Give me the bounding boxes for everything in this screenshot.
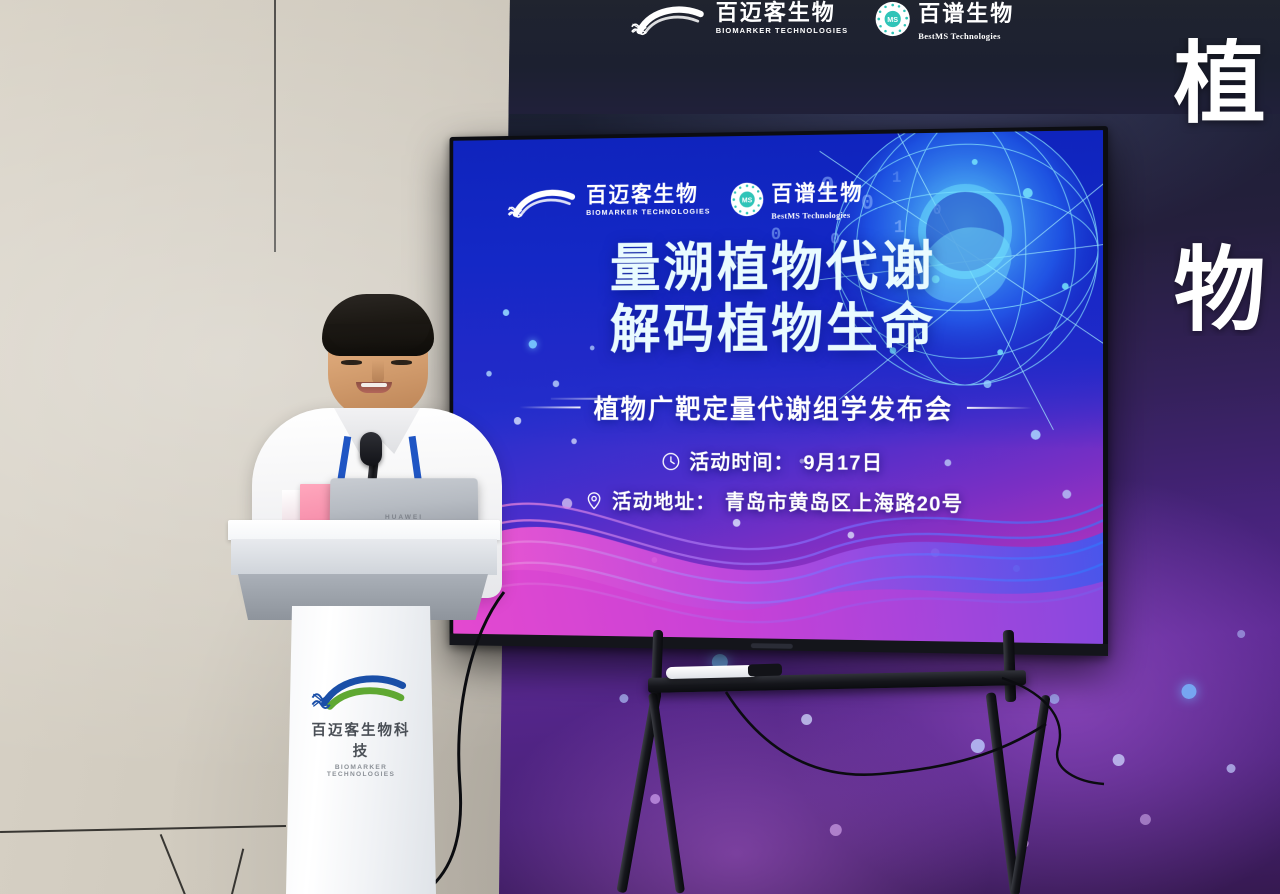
backdrop-biomarker-en: BIOMARKER TECHNOLOGIES bbox=[716, 27, 849, 35]
podium-logo: 百迈客生物科技 BIOMARKER TECHNOLOGIES bbox=[309, 668, 413, 778]
slide-subtitle: 植物广靶定量代谢组学发布会 bbox=[453, 388, 1103, 427]
screen-logo-group: 百迈客生物 BIOMARKER TECHNOLOGIES bbox=[506, 175, 863, 223]
event-address-label: 活动地址： bbox=[612, 486, 716, 516]
podium-logo-cn: 百迈客生物科技 bbox=[309, 719, 413, 761]
backdrop-logo-group: 百迈客生物 BIOMARKER TECHNOLOGIES MS bbox=[630, 0, 1015, 41]
set-top-box[interactable] bbox=[748, 664, 782, 677]
slide-event-meta: 活动时间： 9月17日 活动地址： 青岛市黄岛区上海路20号 bbox=[453, 446, 1103, 530]
microphone-head bbox=[360, 432, 382, 466]
tv-screen: 0 0 0 1 0 1 1 0 1 0 1 1 0 bbox=[453, 130, 1103, 644]
screen-bestms-logo: MS 百谱生物 BestMS Technologies bbox=[730, 175, 864, 221]
bestms-badge-icon: MS bbox=[874, 1, 910, 37]
screen-biomarker-cn: 百迈客生物 bbox=[586, 184, 710, 207]
speaker-nose bbox=[372, 360, 384, 384]
screen-biomarker-logo: 百迈客生物 BIOMARKER TECHNOLOGIES bbox=[506, 183, 710, 218]
speaker-eye-left bbox=[341, 360, 362, 365]
event-time-row: 活动时间： 9月17日 bbox=[453, 446, 1103, 478]
screen-bestms-cn: 百谱生物 bbox=[771, 175, 863, 208]
backdrop-side-text: 植 物 bbox=[1174, 38, 1280, 336]
bestms-badge-label: MS bbox=[887, 15, 898, 24]
laptop[interactable]: HUAWEI bbox=[330, 478, 479, 526]
speaker-eye-right bbox=[391, 360, 412, 365]
screen-biomarker-en: BIOMARKER TECHNOLOGIES bbox=[586, 208, 710, 217]
podium: 百迈客生物科技 BIOMARKER TECHNOLOGIES bbox=[228, 520, 500, 894]
location-pin-icon bbox=[584, 490, 604, 510]
speaker-hair bbox=[322, 294, 434, 356]
slide-title-line-1: 量溯植物代谢 bbox=[453, 234, 1103, 300]
presentation-display[interactable]: 0 0 0 1 0 1 1 0 1 0 1 1 0 bbox=[450, 126, 1108, 656]
presentation-photo: 百迈客生物 BIOMARKER TECHNOLOGIES MS bbox=[0, 0, 1280, 894]
podium-column: 百迈客生物科技 BIOMARKER TECHNOLOGIES bbox=[286, 606, 436, 894]
stand-leg-left-lower-b bbox=[648, 692, 685, 893]
event-address-value: 青岛市黄岛区上海路20号 bbox=[725, 487, 964, 518]
backdrop-biomarker-logo: 百迈客生物 BIOMARKER TECHNOLOGIES bbox=[630, 2, 849, 36]
slide-title-line-2: 解码植物生命 bbox=[453, 297, 1103, 361]
event-time-value: 9月17日 bbox=[803, 447, 883, 477]
tv-stand bbox=[600, 630, 1070, 894]
svg-text:MS: MS bbox=[741, 197, 752, 204]
subtitle-rule-right bbox=[967, 406, 1032, 408]
biomarker-arc-color-icon bbox=[309, 668, 413, 710]
clock-icon bbox=[661, 451, 681, 472]
podium-logo-en: BIOMARKER TECHNOLOGIES bbox=[309, 764, 413, 778]
biomarker-arc-icon bbox=[506, 185, 578, 219]
event-address-row: 活动地址： 青岛市黄岛区上海路20号 bbox=[453, 485, 1103, 519]
backdrop-side-char-2: 物 bbox=[1174, 246, 1280, 336]
tv-bezel: 0 0 0 1 0 1 1 0 1 0 1 1 0 bbox=[450, 126, 1108, 656]
backdrop-side-char-1: 植 bbox=[1174, 38, 1280, 128]
backdrop-biomarker-cn: 百迈客生物 bbox=[716, 2, 849, 24]
slide-title: 量溯植物代谢 解码植物生命 bbox=[453, 234, 1103, 361]
slide-subtitle-text: 植物广靶定量代谢组学发布会 bbox=[594, 388, 954, 427]
screen-bestms-en: BestMS Technologies bbox=[771, 210, 863, 221]
event-time-label: 活动时间： bbox=[689, 446, 794, 476]
podium-top-surface bbox=[228, 520, 500, 540]
bestms-badge-icon: MS bbox=[730, 181, 764, 217]
podium-front-panel bbox=[231, 539, 497, 575]
remote-control[interactable] bbox=[666, 665, 758, 679]
biomarker-arc-icon bbox=[630, 2, 708, 36]
stand-cable-right bbox=[998, 670, 1108, 790]
backdrop-bestms-logo: MS 百谱生物 BestMS Technologies bbox=[874, 0, 1014, 41]
backdrop-bestms-en: BestMS Technologies bbox=[918, 31, 1014, 41]
backdrop-bestms-cn: 百谱生物 bbox=[918, 0, 1014, 28]
subtitle-rule-left bbox=[519, 406, 580, 408]
speaker-mouth bbox=[356, 382, 392, 393]
